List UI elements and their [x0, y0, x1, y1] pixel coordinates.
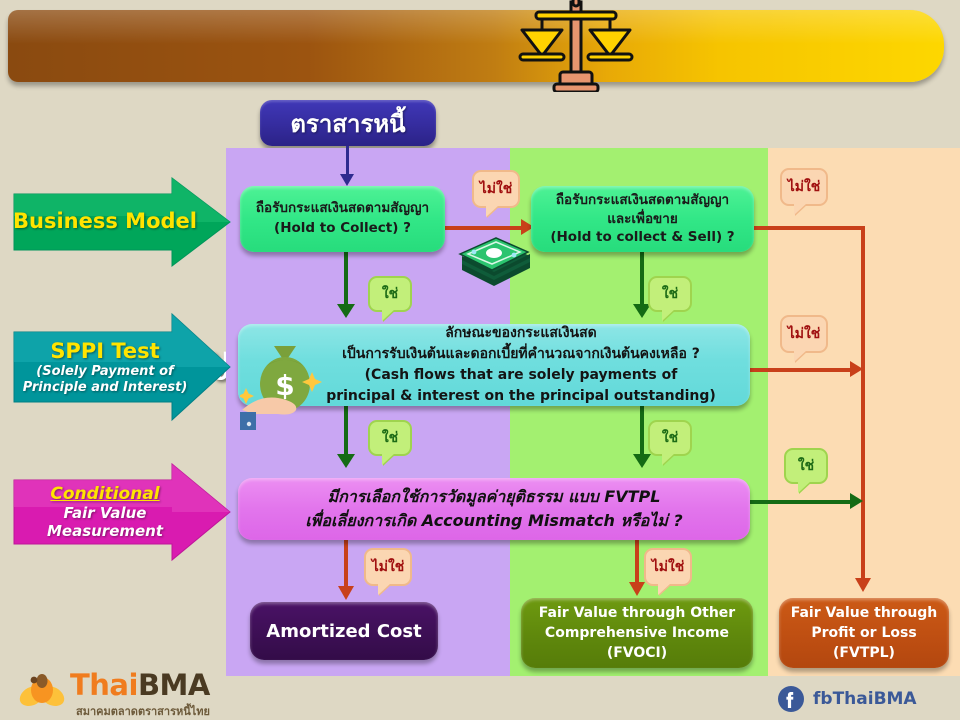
arrowhead-fv-no-right [629, 582, 645, 596]
hold-collect-line-2: (Hold to Collect) ? [256, 219, 429, 239]
fvoci-line-1: Fair Value through Other [539, 603, 735, 623]
sppi-text: ลักษณะของกระแสเงินสด เป็นการรับเงินต้นแล… [272, 323, 716, 407]
amortized-cost-label: Amortized Cost [266, 621, 421, 642]
connector-fvtpl-trunk [861, 226, 865, 582]
hold-sell-line-3: (Hold to collect & Sell) ? [550, 228, 734, 247]
sidebar-label-business-model: Business Model [12, 176, 232, 268]
arrowhead-sppi-yes-right [633, 454, 651, 468]
connector-sppi-yes-right [640, 406, 644, 458]
fair-value-line-2: เพื่อเลี่ยงการเกิด Accounting Mismatch ห… [305, 509, 682, 533]
connector-sppi-yes-left [344, 406, 348, 458]
facebook-label: fbThaiBMA [813, 689, 917, 709]
callout-yes-text: ใช่ [662, 283, 678, 305]
hold-collect-line-1: ถือรับกระแสเงินสดตามสัญญา [256, 199, 429, 219]
arrowhead-fvtpl-trunk [855, 578, 871, 592]
logo-subtitle: สมาคมตลาดตราสารหนี้ไทย [76, 702, 210, 720]
thaibma-logo[interactable]: ThaiBMA สมาคมตลาดตราสารหนี้ไทย [18, 668, 218, 716]
sppi-line-1: ลักษณะของกระแสเงินสด [326, 323, 716, 344]
fvoci-text: Fair Value through Other Comprehensive I… [539, 603, 735, 664]
top-node-debt-instruments[interactable]: ตราสารหนี้ [260, 100, 436, 146]
callout-yes-hold-sell: ใช่ [648, 276, 692, 312]
connector-top-to-hold-collect [346, 146, 349, 176]
callout-no-text: ไม่ใช่ [652, 556, 685, 578]
sppi-line-2: เป็นการรับเงินต้นและดอกเบี้ยที่คำนวณจากเ… [326, 344, 716, 365]
conditional-subtitle-1: Fair Value [47, 504, 163, 522]
logo-text-bma: BMA [138, 668, 210, 702]
callout-yes-hold-collect: ใช่ [368, 276, 412, 312]
flowchart-canvas: มาตรฐานบัญชีใหม่ TFRS 9 กับตราสารหนี้ ตร… [0, 0, 960, 720]
sidebar-label-conditional-fv: Conditional Fair Value Measurement [12, 462, 232, 562]
business-model-label: Business Model [13, 209, 231, 234]
conditional-label-group: Conditional Fair Value Measurement [47, 484, 197, 540]
connector-hold-sell-yes [640, 252, 644, 308]
callout-yes-fv-option: ใช่ [784, 448, 828, 484]
header-banner [8, 10, 944, 82]
fvoci-line-2: Comprehensive Income [539, 623, 735, 643]
callout-no-hold-sell: ไม่ใช่ [780, 168, 828, 206]
fvtpl-line-1: Fair Value through [791, 603, 938, 623]
fair-value-line-1: มีการเลือกใช้การวัดมูลค่ายุติธรรม แบบ FV… [305, 485, 682, 509]
callout-no-hold-collect: ไม่ใช่ [472, 170, 520, 208]
banner-gloss [8, 10, 944, 44]
result-fvtpl[interactable]: Fair Value through Profit or Loss (FVTPL… [779, 598, 949, 668]
fvtpl-line-2: Profit or Loss [791, 623, 938, 643]
connector-sppi-no [750, 368, 858, 372]
callout-yes-text: ใช่ [662, 427, 678, 449]
result-fvoci[interactable]: Fair Value through Other Comprehensive I… [521, 598, 753, 668]
fair-value-text: มีการเลือกใช้การวัดมูลค่ายุติธรรม แบบ FV… [305, 485, 682, 533]
decision-fair-value-option[interactable]: มีการเลือกใช้การวัดมูลค่ายุติธรรม แบบ FV… [238, 478, 750, 540]
callout-no-text: ไม่ใช่ [372, 556, 405, 578]
connector-hold-collect-yes [344, 252, 348, 308]
arrowhead-fv-no-left [338, 586, 354, 600]
connector-fv-yes [750, 500, 858, 504]
conditional-subtitle-2: Measurement [47, 522, 163, 540]
callout-no-text: ไม่ใช่ [788, 176, 821, 198]
callout-yes-sppi-right: ใช่ [648, 420, 692, 456]
sppi-label-group: SPPI Test (Solely Payment of Principle a… [23, 339, 222, 395]
callout-no-fv-amortized: ไม่ใช่ [364, 548, 412, 586]
hold-collect-text: ถือรับกระแสเงินสดตามสัญญา (Hold to Colle… [256, 199, 429, 238]
sppi-title: SPPI Test [23, 339, 188, 364]
sppi-subtitle-1: (Solely Payment of [23, 364, 188, 380]
sppi-line-4: principal & interest on the principal ou… [326, 386, 716, 407]
hold-sell-text: ถือรับกระแสเงินสดตามสัญญา และเพื่อขาย (H… [550, 191, 734, 248]
balance-scales-icon [516, 0, 636, 92]
arrowhead-top-to-hold-collect [340, 174, 354, 186]
money-bag-in-hand-icon: $ [240, 340, 326, 430]
connector-fv-no-right [635, 540, 639, 586]
callout-no-text: ไม่ใช่ [788, 323, 821, 345]
hold-sell-line-2: และเพื่อขาย [550, 210, 734, 229]
fvtpl-text: Fair Value through Profit or Loss (FVTPL… [791, 603, 938, 664]
facebook-link[interactable]: fbThaiBMA [778, 686, 917, 712]
conditional-title: Conditional [47, 484, 163, 504]
svg-text:$: $ [275, 369, 294, 402]
arrowhead-fv-yes [850, 493, 863, 509]
callout-yes-text: ใช่ [382, 427, 398, 449]
logo-text-thai: Thai [70, 668, 138, 702]
fvtpl-line-3: (FVTPL) [791, 643, 938, 663]
decision-hold-to-collect-and-sell[interactable]: ถือรับกระแสเงินสดตามสัญญา และเพื่อขาย (H… [531, 186, 754, 252]
hold-sell-line-1: ถือรับกระแสเงินสดตามสัญญา [550, 191, 734, 210]
sppi-line-3: (Cash flows that are solely payments of [326, 365, 716, 386]
arrowhead-hold-collect-yes [337, 304, 355, 318]
cash-stack-icon [458, 228, 532, 290]
fvoci-line-3: (FVOCI) [539, 643, 735, 663]
sidebar-label-sppi-test: SPPI Test (Solely Payment of Principle a… [12, 312, 232, 422]
sppi-subtitle-2: Principle and Interest) [23, 380, 188, 396]
callout-no-fv-fvoci: ไม่ใช่ [644, 548, 692, 586]
connector-fv-no-left [344, 540, 348, 590]
top-node-label: ตราสารหนี้ [290, 104, 405, 143]
callout-no-sppi: ไม่ใช่ [780, 315, 828, 353]
callout-yes-text: ใช่ [798, 455, 814, 477]
decision-hold-to-collect[interactable]: ถือรับกระแสเงินสดตามสัญญา (Hold to Colle… [240, 186, 445, 252]
callout-yes-text: ใช่ [382, 283, 398, 305]
callout-yes-sppi-left: ใช่ [368, 420, 412, 456]
arrowhead-sppi-yes-left [337, 454, 355, 468]
facebook-icon [778, 686, 804, 712]
result-amortized-cost[interactable]: Amortized Cost [250, 602, 438, 660]
arrowhead-sppi-no [850, 361, 863, 377]
connector-hold-sell-no [754, 226, 865, 230]
callout-no-text: ไม่ใช่ [480, 178, 513, 200]
